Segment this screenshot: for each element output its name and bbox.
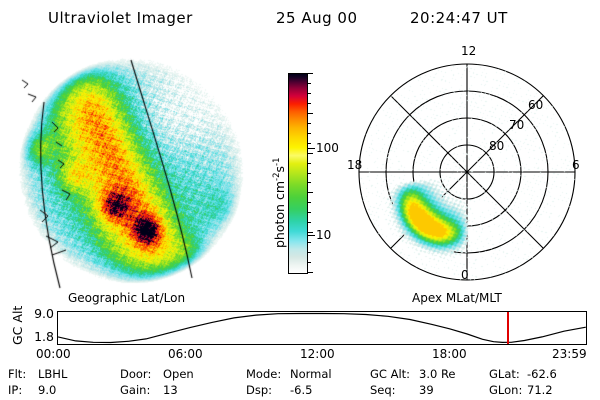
colorbar-exponent-2: -1 <box>272 158 282 166</box>
strip-x-tick-2: 12:00 <box>300 347 335 361</box>
colorbar-major-tick <box>307 148 315 149</box>
colorbar-tick-label-100: 100 <box>316 141 339 155</box>
colorbar-tick <box>307 93 311 94</box>
status-dsp-key: Dsp: <box>246 383 272 397</box>
colorbar-tick <box>307 173 311 174</box>
strip-x-tick-3: 18:00 <box>432 347 467 361</box>
status-glat-value: -62.6 <box>527 367 557 381</box>
status-seq-value: 39 <box>419 383 434 397</box>
status-glon-key: GLon: <box>489 383 522 397</box>
polar-mlat-mlt-dial <box>357 62 577 282</box>
strip-left-title: Geographic Lat/Lon <box>68 291 185 305</box>
polar-label-lat-80: 80 <box>489 139 504 153</box>
polar-dial-svg <box>357 62 577 282</box>
strip-x-tick-4: 23:59 <box>552 347 587 361</box>
colorbar-tick <box>307 182 311 183</box>
status-flt-key: Flt: <box>8 367 26 381</box>
polar-label-mlt-12: 12 <box>461 44 476 58</box>
status-mode-key: Mode: <box>246 367 281 381</box>
status-ip-value: 9.0 <box>38 383 56 397</box>
status-gcalt-value: 3.0 Re <box>419 367 456 381</box>
uvi-display: Ultraviolet Imager 25 Aug 00 20:24:47 UT… <box>0 0 600 400</box>
polar-label-mlt-0: 0 <box>461 268 469 282</box>
status-gain-value: 13 <box>163 383 178 397</box>
polar-label-lat-70: 70 <box>509 118 524 132</box>
strip-y-tick-1_8: 1.8 <box>20 329 54 344</box>
uv-image-disk <box>0 50 260 290</box>
polar-label-mlt-6: 6 <box>572 158 580 172</box>
colorbar-tick <box>307 113 313 114</box>
status-door-value: Open <box>163 367 194 381</box>
instrument-title: Ultraviolet Imager <box>48 9 193 27</box>
colorbar-tick <box>307 153 313 154</box>
status-ip-key: IP: <box>8 383 22 397</box>
colorbar-tick <box>307 123 311 124</box>
colorbar-unit-s: s <box>272 166 287 173</box>
polar-label-mlt-18: 18 <box>347 158 362 172</box>
colorbar-major-tick <box>307 235 315 236</box>
colorbar-gradient <box>288 73 308 274</box>
colorbar-tick <box>307 242 311 243</box>
colorbar-tick <box>307 163 311 164</box>
status-seq-key: Seq: <box>370 383 396 397</box>
status-glat-key: GLat: <box>489 367 520 381</box>
colorbar-tick <box>307 272 313 273</box>
colorbar-tick-label-10: 10 <box>316 228 331 242</box>
colorbar-tick <box>307 192 313 193</box>
status-flt-value: LBHL <box>38 367 67 381</box>
colorbar-tick <box>307 232 313 233</box>
status-glon-value: 71.2 <box>527 383 553 397</box>
colorbar-tick <box>307 212 311 213</box>
status-dsp-value: -6.5 <box>290 383 312 397</box>
colorbar-tick <box>307 262 311 263</box>
observation-time: 20:24:47 UT <box>410 9 508 27</box>
status-gcalt-key: GC Alt: <box>370 367 410 381</box>
colorbar-tick <box>307 143 311 144</box>
colorbar-tick <box>307 252 311 253</box>
colorbar-tick <box>307 133 311 134</box>
colorbar-tick <box>307 73 313 74</box>
colorbar-exponent-1: -2 <box>272 173 282 181</box>
status-door-key: Door: <box>120 367 151 381</box>
polar-label-lat-60: 60 <box>528 98 543 112</box>
strip-right-title: Apex MLat/MLT <box>412 291 502 305</box>
status-mode-value: Normal <box>290 367 332 381</box>
observation-date: 25 Aug 00 <box>276 9 358 27</box>
colorbar-tick <box>307 103 311 104</box>
colorbar-tick <box>307 222 311 223</box>
strip-y-tick-9: 9.0 <box>20 306 54 321</box>
status-gain-key: Gain: <box>120 383 150 397</box>
colorbar-tick <box>307 202 311 203</box>
orbit-altitude-plot <box>57 311 587 345</box>
colorbar-axis-label: photon cm-2s-1 <box>272 158 287 248</box>
colorbar-unit-photon: photon cm <box>272 181 287 248</box>
current-time-marker <box>507 312 509 345</box>
strip-x-tick-1: 06:00 <box>168 347 203 361</box>
colorbar-tick <box>307 83 311 84</box>
strip-x-tick-0: 00:00 <box>36 347 71 361</box>
